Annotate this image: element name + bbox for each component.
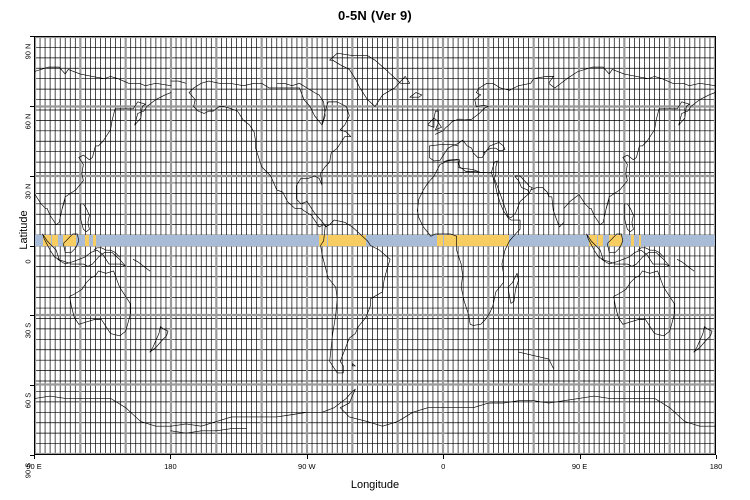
coastlines: [35, 37, 715, 454]
map-plot-area[interactable]: [34, 36, 716, 455]
band-land-cell: [598, 235, 603, 247]
x-tick-mark: [716, 455, 717, 459]
y-tick-label: 30 S: [24, 315, 33, 347]
y-tick-label: 90 S: [24, 455, 33, 487]
band-land-cell: [43, 235, 51, 247]
y-axis-label: Latitude: [17, 170, 31, 290]
y-tick-label: 60 S: [24, 385, 33, 417]
x-tick-label: 0: [418, 462, 468, 471]
band-land-cell: [319, 235, 327, 247]
band-land-cell: [631, 235, 635, 247]
x-tick-label: 90 E: [9, 462, 59, 471]
x-axis-label: Longitude: [34, 478, 716, 492]
map-gridlines: [35, 37, 715, 454]
x-tick-mark: [580, 455, 581, 459]
band-land-cell: [589, 235, 597, 247]
chart-title: 0-5N (Ver 9): [0, 8, 750, 24]
band-land-cell: [609, 235, 622, 247]
y-tick-label: 60 N: [24, 105, 33, 137]
band-land-cell: [85, 235, 89, 247]
band-land-cell: [639, 235, 641, 247]
band-land-cell: [52, 235, 57, 247]
x-tick-mark: [443, 455, 444, 459]
y-tick-label: 90 N: [24, 36, 33, 68]
x-tick-label: 90 W: [282, 462, 332, 471]
band-land-cell: [437, 235, 442, 247]
band-land-cell: [93, 235, 95, 247]
x-tick-mark: [34, 455, 35, 459]
band-land-cell: [328, 235, 367, 247]
x-tick-label: 180: [691, 462, 741, 471]
band-land-cell: [63, 235, 76, 247]
band-land-cell: [444, 235, 509, 247]
highlight-band-0-5n: [35, 235, 715, 247]
x-tick-label: 90 E: [555, 462, 605, 471]
band-sea-fill: [35, 235, 716, 247]
world-map-figure: 0-5N (Ver 9) 90 E18090 W090 E18090 N60 N…: [0, 0, 750, 500]
x-tick-mark: [170, 455, 171, 459]
x-tick-mark: [307, 455, 308, 459]
x-tick-label: 180: [145, 462, 195, 471]
